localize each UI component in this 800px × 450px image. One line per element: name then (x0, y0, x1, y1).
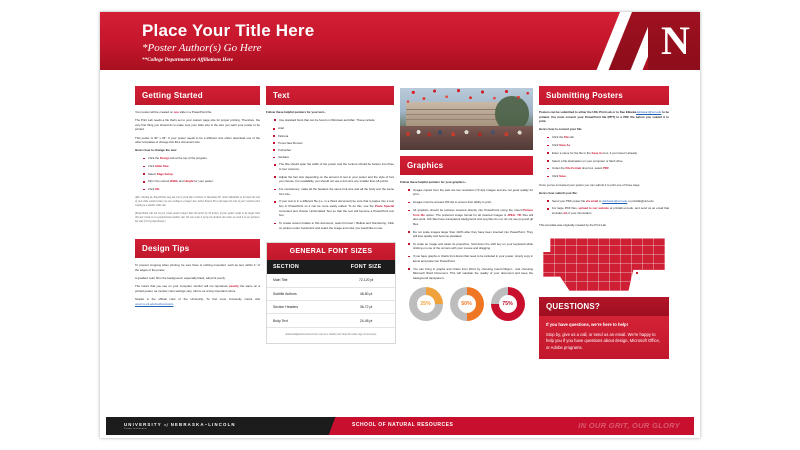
cell-size: 36-72 pt (337, 301, 395, 313)
list-item: Click Save. (547, 174, 669, 179)
font-name-list: Arial Tahoma Times New Roman Trebuchet V… (266, 126, 394, 159)
sp-convert-steps: Click the File tab. Click Save As. Enter… (539, 135, 669, 179)
text-bullets: Use standard fonts that can be found on … (266, 118, 394, 123)
screenshot-canvas: N Place Your Title Here *Poster Author(s… (0, 0, 800, 450)
list-item: Click the Design tab at the top of the p… (143, 156, 260, 161)
campus-crowd-photo (400, 88, 533, 150)
sp-paragraph-1: Posters can be submitted to either the U… (539, 110, 669, 124)
section-header-graphics: Graphics (400, 156, 533, 175)
column-four: Submitting Posters Posters can be submit… (539, 86, 669, 359)
table-row: Section Headers 36-72 pt (267, 301, 395, 314)
list-item: Enter a name for the file in the Save As… (547, 151, 669, 156)
section-header-text: Text (266, 86, 394, 105)
sp-convert-label: Here's how to convert your file: (539, 127, 669, 132)
list-item: All graphics should be pictures inserted… (408, 208, 533, 226)
cell-size: 48-80 pt (337, 288, 395, 300)
list-item: Tahoma (273, 134, 394, 139)
poster-template: N Place Your Title Here *Poster Author(s… (100, 12, 700, 438)
email-link[interactable]: debbeka1@unl.edu (602, 199, 627, 203)
table-footnote: Acknowledgments and sources can be a sma… (267, 328, 395, 343)
poster-body: Getting Started Your poster will be crea… (100, 70, 700, 414)
list-item: For consistency, make all the headers th… (274, 187, 394, 196)
cell-section: Body Text (267, 314, 337, 326)
section-header-design-tips: Design Tips (135, 239, 260, 258)
map-lincoln-marker-icon (635, 271, 639, 275)
general-font-sizes-table: GENERAL FONT SIZES SECTION FONT SIZE Mai… (266, 242, 396, 344)
dt-paragraph-4: Scarlet is the official color of the Uni… (135, 297, 260, 306)
list-item: Click Slide Size. (143, 164, 260, 169)
list-item: If you have graphs or charts from Excel … (408, 254, 533, 263)
list-item: Verdana (273, 155, 394, 160)
list-item: You can bring in graphs and charts from … (408, 267, 533, 281)
sp-footnote: This template was originally created by … (539, 223, 669, 228)
donut-chart-75: 75% (491, 287, 525, 321)
list-item: To create custom bullets in this documen… (274, 221, 394, 230)
list-item: Under the File Format drop box, select P… (547, 166, 669, 171)
list-item: The title should span the width of the p… (274, 162, 394, 171)
list-item: Trebuchet (273, 148, 394, 153)
gs-note-1: After clicking ok, PowerPoint may ask yo… (135, 196, 260, 208)
list-item: Adjust the font size depending on the am… (274, 175, 394, 184)
section-header-submitting-posters: Submitting Posters (539, 86, 669, 105)
gs-howto-label: Here's how to change the size: (135, 148, 260, 153)
donut-chart-group: 25% 50% 75% (400, 287, 533, 321)
list-item: Arial (273, 126, 394, 131)
gs-paragraph-3: This poster is 40" x 36". If your poster… (135, 136, 260, 145)
sp-submit-steps: Send your PDF poster file via email to d… (539, 199, 669, 216)
page-title: Place Your Title Here (142, 21, 314, 40)
list-item: Click OK. (143, 187, 260, 192)
poster-authors: *Poster Author(s) Go Here (142, 41, 314, 55)
table-row: Main Title 72-120 pt (267, 274, 395, 287)
list-item: To scale an image and retain its proport… (408, 242, 533, 251)
poster-affiliation: **College Department or Affiliations Her… (142, 56, 314, 64)
graphics-bullets: Images copied from the web are low resol… (400, 188, 533, 281)
sp-submit-label: Here's how submit your file: (539, 191, 669, 196)
questions-line-1: If you have questions, we're here to hel… (546, 322, 662, 328)
photo-crowd (400, 126, 533, 150)
questions-body: If you have questions, we're here to hel… (539, 316, 669, 359)
list-item: Use standard fonts that can be found on … (274, 118, 394, 123)
gs-steps-list: Click the Design tab at the top of the p… (135, 156, 260, 192)
dt-paragraph-3: The colors that you see on your computer… (135, 284, 260, 293)
questions-line-2: Stop by, give us a call, or send us an e… (546, 332, 662, 351)
donut-chart-50: 50% (450, 287, 484, 321)
table-header-row: SECTION FONT SIZE (267, 260, 395, 274)
donut-chart-25: 25% (409, 287, 443, 321)
gs-note-2: (PowerPoint will not let you create post… (135, 212, 260, 224)
dt-paragraph-1: To prevent cropping when printing, be su… (135, 263, 260, 272)
list-item: Select a file destination on your comput… (547, 159, 669, 164)
list-item: If your text is in a different file (i.e… (274, 199, 394, 217)
poster-header: N Place Your Title Here *Poster Author(s… (100, 12, 700, 70)
list-item: Images must be at least 150 dpi to ensur… (408, 200, 533, 205)
donut-label: 25% (417, 295, 435, 313)
poster-title-group: Place Your Title Here *Poster Author(s) … (142, 21, 314, 64)
donut-label: 50% (458, 295, 476, 313)
map-county-grid (543, 235, 665, 291)
list-item: Do not scale images larger than 110% aft… (408, 230, 533, 239)
cell-section: Main Title (267, 274, 337, 286)
donut-label: 75% (499, 295, 517, 313)
university-colors-link[interactable]: ucomm.unl.edu/toolbox/colors (135, 302, 173, 306)
dee-email-link[interactable]: debbeka1@unl.edu (636, 110, 661, 114)
dt-paragraph-2: A gradient color fill in the background,… (135, 276, 260, 281)
nebraska-n-logo-icon: N (660, 21, 690, 61)
list-item: Select Page Setup. (143, 172, 260, 177)
column-header-section: SECTION (267, 260, 337, 274)
table-title: GENERAL FONT SIZES (267, 243, 395, 260)
cell-section: Subtitle Authors (267, 288, 337, 300)
table-row: Subtitle Authors 48-80 pt (267, 288, 395, 301)
table-row: Body Text 24-48 pt (267, 314, 395, 327)
upload-website-link[interactable]: upload to our website (578, 206, 608, 210)
list-item: Images copied from the web are low resol… (408, 188, 533, 197)
list-item: Send your PDF poster file via email to d… (547, 199, 669, 204)
poster-footer: UNIVERSITY of NEBRASKA–LINCOLNDriven to … (100, 414, 700, 438)
cell-section: Section Headers (267, 301, 337, 313)
footer-bar: UNIVERSITY of NEBRASKA–LINCOLNDriven to … (106, 417, 694, 435)
list-item: Fill in the correct Width and Height for… (143, 179, 260, 184)
list-item: Click Save As. (547, 143, 669, 148)
footer-tagline: IN OUR GRIT, OUR GLORY (578, 421, 680, 430)
graphics-intro: Follow these helpful pointers for your g… (400, 180, 533, 185)
list-item: Times New Roman (273, 141, 394, 146)
section-header-getting-started: Getting Started (135, 86, 260, 105)
column-one: Getting Started Your poster will be crea… (135, 86, 260, 310)
text-bullets-cont: The title should span the width of the p… (266, 162, 394, 230)
nebraska-map-graphic (543, 235, 665, 291)
sp-paragraph-2: Once you've converted your poster you ca… (539, 183, 669, 188)
text-intro: Follow these helpful pointers for your t… (266, 110, 394, 115)
gs-paragraph-2: The Print Lab needs a file that's set to… (135, 118, 260, 132)
list-item: Click the File tab. (547, 135, 669, 140)
column-three: Graphics Follow these helpful pointers f… (400, 86, 533, 321)
cell-size: 72-120 pt (337, 274, 395, 286)
cell-size: 24-48 pt (337, 314, 395, 326)
photo-balloons (400, 88, 533, 110)
column-two: Text Follow these helpful pointers for y… (266, 86, 394, 344)
section-header-questions: QUESTIONS? (539, 297, 669, 316)
university-wordmark: UNIVERSITY of NEBRASKA–LINCOLNDriven to … (124, 422, 236, 430)
footer-unit-name: SCHOOL OF NATURAL RESOURCES (352, 422, 453, 428)
list-item: For large PDF files, upload to our websi… (547, 206, 669, 215)
gs-paragraph-1: Your poster will be created on one slide… (135, 110, 260, 115)
column-header-font-size: FONT SIZE (337, 260, 395, 274)
